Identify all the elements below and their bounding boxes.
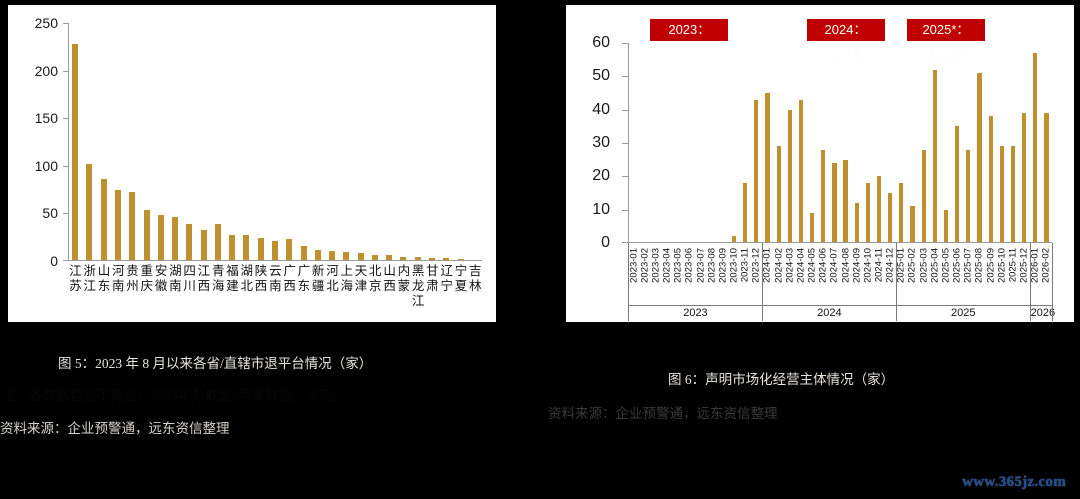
y-tick-mark xyxy=(622,110,628,111)
x-tick-label: 2023-01 xyxy=(628,247,639,305)
x-tick-label: 2023-06 xyxy=(684,247,695,305)
y-tick-label: 50 xyxy=(42,205,58,221)
bar xyxy=(129,192,135,261)
x-tick-label: 2024-10 xyxy=(862,247,873,305)
x-tick-label: 广东 xyxy=(297,263,311,293)
x-tick-label: 2026-02 xyxy=(1041,247,1052,305)
x-tick-label: 2023-10 xyxy=(728,247,739,305)
bar xyxy=(1033,53,1037,243)
bar xyxy=(215,224,221,261)
figure-6-panel: 0102030405060 2023-012023-022023-032023-… xyxy=(566,5,1074,322)
y-tick-label: 40 xyxy=(592,101,610,119)
x-tick-label: 广西 xyxy=(282,263,296,293)
x-tick-label: 北京 xyxy=(368,263,382,293)
bar xyxy=(777,146,781,243)
x-tick-label: 2024-04 xyxy=(795,247,806,305)
x-tick-label: 贵州 xyxy=(125,263,139,293)
fig6-plot-area xyxy=(628,43,1052,243)
year-annotation-box: 2023： xyxy=(650,19,728,41)
figure-5-source: 资料来源：企业预警通，远东资信整理 xyxy=(0,417,230,437)
bar xyxy=(172,217,178,261)
bar xyxy=(186,224,192,261)
year-group-divider xyxy=(1052,243,1053,321)
fig6-x-axis-labels: 2023-012023-022023-032023-042023-052023-… xyxy=(628,247,1052,305)
y-tick-mark xyxy=(622,76,628,77)
x-tick-label: 黑龙江 xyxy=(411,263,425,308)
bar xyxy=(101,179,107,261)
x-tick-label: 福建 xyxy=(225,263,239,293)
fig5-y-axis-labels: 050100150200250 xyxy=(16,23,62,261)
y-tick-mark xyxy=(622,210,628,211)
bar xyxy=(799,100,803,243)
x-tick-label: 2024-07 xyxy=(829,247,840,305)
x-tick-label: 2025-10 xyxy=(996,247,1007,305)
x-tick-label: 浙江 xyxy=(82,263,96,293)
x-tick-label: 四川 xyxy=(182,263,196,293)
x-tick-label: 陕西 xyxy=(254,263,268,293)
y-tick-label: 10 xyxy=(592,201,610,219)
x-tick-label: 2024-12 xyxy=(885,247,896,305)
bar xyxy=(1011,146,1015,243)
year-group-label: 2024 xyxy=(762,305,896,321)
year-group-divider xyxy=(762,243,763,321)
x-tick-label: 2024-09 xyxy=(851,247,862,305)
x-tick-label: 2023-12 xyxy=(751,247,762,305)
bar xyxy=(810,213,814,243)
x-tick-label: 2023-02 xyxy=(639,247,650,305)
bar xyxy=(888,193,892,243)
y-tick-label: 20 xyxy=(592,167,610,185)
x-tick-label: 2025-12 xyxy=(1018,247,1029,305)
x-tick-label: 2025-01 xyxy=(896,247,907,305)
x-tick-label: 2023-09 xyxy=(717,247,728,305)
figure-5-caption: 图 5：2023 年 8 月以来各省/直辖市退平台情况（家） xyxy=(58,352,372,372)
x-tick-label: 云南 xyxy=(268,263,282,293)
bar xyxy=(158,215,164,261)
bar xyxy=(115,190,121,261)
y-tick-label: 200 xyxy=(35,63,58,79)
bar xyxy=(286,239,292,261)
y-tick-label: 0 xyxy=(50,253,58,269)
bar xyxy=(788,110,792,243)
x-tick-label: 重庆 xyxy=(139,263,153,293)
figure-5-note: 注：各数据包含不完全，2025年为截至2月末数据，下同。 xyxy=(2,384,346,404)
bar xyxy=(877,176,881,243)
bar xyxy=(258,238,264,261)
y-tick-mark xyxy=(622,43,628,44)
y-tick-mark xyxy=(63,71,68,72)
x-tick-label: 江苏 xyxy=(68,263,82,293)
bar xyxy=(855,203,859,243)
x-tick-label: 上海 xyxy=(339,263,353,293)
bar xyxy=(910,206,914,243)
x-tick-label: 山西 xyxy=(382,263,396,293)
bar xyxy=(272,241,278,261)
y-tick-label: 30 xyxy=(592,134,610,152)
x-axis-line xyxy=(68,260,482,261)
x-tick-label: 青海 xyxy=(211,263,225,293)
x-tick-label: 2026-01 xyxy=(1030,247,1041,305)
bar xyxy=(765,93,769,243)
year-group-label: 2023 xyxy=(628,305,762,321)
x-tick-label: 2025-02 xyxy=(907,247,918,305)
bar xyxy=(301,246,307,261)
year-group-divider xyxy=(896,243,897,321)
bar xyxy=(966,150,970,243)
y-tick-label: 50 xyxy=(592,67,610,85)
y-tick-label: 60 xyxy=(592,34,610,52)
x-tick-label: 2025-03 xyxy=(918,247,929,305)
bar xyxy=(201,230,207,261)
x-tick-label: 湖北 xyxy=(239,263,253,293)
y-tick-label: 150 xyxy=(35,110,58,126)
site-watermark: www.365jz.com xyxy=(962,474,1066,491)
figure-6-caption: 图 6：声明市场化经营主体情况（家） xyxy=(668,368,894,388)
x-tick-label: 2024-11 xyxy=(873,247,884,305)
year-annotation-count: 385家 xyxy=(907,43,985,62)
y-tick-mark xyxy=(622,176,628,177)
x-tick-label: 2023-11 xyxy=(740,247,751,305)
bar xyxy=(899,183,903,243)
bar xyxy=(1000,146,1004,243)
x-tick-label: 2025-04 xyxy=(929,247,940,305)
y-tick-label: 100 xyxy=(35,158,58,174)
bar xyxy=(977,73,981,243)
x-tick-label: 2024-01 xyxy=(762,247,773,305)
bar xyxy=(86,164,92,261)
x-tick-label: 2025-05 xyxy=(940,247,951,305)
x-tick-label: 山东 xyxy=(97,263,111,293)
y-tick-label: 0 xyxy=(601,234,610,252)
x-tick-label: 2025-11 xyxy=(1007,247,1018,305)
bar xyxy=(955,126,959,243)
x-tick-label: 内蒙 xyxy=(396,263,410,293)
bar xyxy=(72,44,78,261)
y-tick-label: 250 xyxy=(35,15,58,31)
bar xyxy=(1022,113,1026,243)
bar xyxy=(843,160,847,243)
x-tick-label: 湖南 xyxy=(168,263,182,293)
bar xyxy=(933,70,937,243)
year-annotation-count: 309家 xyxy=(807,43,885,62)
x-tick-label: 2025-07 xyxy=(963,247,974,305)
x-tick-label: 2024-02 xyxy=(773,247,784,305)
x-tick-label: 甘肃 xyxy=(425,263,439,293)
fig5-x-axis-labels: 江苏浙江山东河南贵州重庆安徽湖南四川江西青海福建湖北陕西云南广西广东新疆河北上海… xyxy=(68,263,482,319)
bar xyxy=(243,235,249,261)
bar xyxy=(1044,113,1048,243)
year-annotation-box: 2025*： xyxy=(907,19,985,41)
x-tick-label: 2024-06 xyxy=(818,247,829,305)
bar xyxy=(944,210,948,243)
y-tick-mark xyxy=(63,118,68,119)
x-tick-label: 2024-08 xyxy=(840,247,851,305)
x-tick-label: 江西 xyxy=(197,263,211,293)
bar xyxy=(832,163,836,243)
y-axis-line xyxy=(68,23,69,261)
x-tick-label: 宁夏 xyxy=(454,263,468,293)
x-tick-label: 2025-06 xyxy=(952,247,963,305)
y-axis-line xyxy=(628,43,629,243)
y-tick-mark xyxy=(63,213,68,214)
x-tick-label: 2023-05 xyxy=(673,247,684,305)
figure-6-source: 资料来源：企业预警通，远东资信整理 xyxy=(548,402,778,422)
x-tick-label: 2023-08 xyxy=(706,247,717,305)
x-tick-label: 2023-04 xyxy=(661,247,672,305)
bar xyxy=(866,183,870,243)
fig5-plot-area xyxy=(68,23,482,261)
figure-5-panel: 050100150200250 江苏浙江山东河南贵州重庆安徽湖南四川江西青海福建… xyxy=(8,5,496,322)
fig6-year-groups: 2023202420252026 xyxy=(628,305,1052,321)
year-group-divider xyxy=(628,243,629,321)
x-tick-label: 2025-09 xyxy=(985,247,996,305)
x-tick-label: 河北 xyxy=(325,263,339,293)
bar xyxy=(989,116,993,243)
x-tick-label: 新疆 xyxy=(311,263,325,293)
y-tick-mark xyxy=(63,166,68,167)
year-group-divider xyxy=(1030,243,1031,321)
bar xyxy=(229,235,235,261)
year-group-label: 2025 xyxy=(896,305,1030,321)
x-axis-line xyxy=(628,242,1052,243)
bar xyxy=(754,100,758,243)
x-tick-label: 吉林 xyxy=(468,263,482,293)
bar xyxy=(144,210,150,261)
x-tick-label: 2023-07 xyxy=(695,247,706,305)
x-tick-label: 河南 xyxy=(111,263,125,293)
x-tick-label: 2024-03 xyxy=(784,247,795,305)
bar xyxy=(743,183,747,243)
year-annotation-box: 2024： xyxy=(807,19,885,41)
x-tick-label: 辽宁 xyxy=(439,263,453,293)
x-tick-label: 安徽 xyxy=(154,263,168,293)
x-tick-label: 2023-03 xyxy=(650,247,661,305)
x-tick-label: 天津 xyxy=(354,263,368,293)
x-tick-label: 2025-08 xyxy=(974,247,985,305)
bar xyxy=(922,150,926,243)
x-tick-label: 2024-05 xyxy=(807,247,818,305)
y-tick-mark xyxy=(622,143,628,144)
bar xyxy=(821,150,825,243)
fig6-y-axis-labels: 0102030405060 xyxy=(570,43,616,243)
y-tick-mark xyxy=(63,23,68,24)
